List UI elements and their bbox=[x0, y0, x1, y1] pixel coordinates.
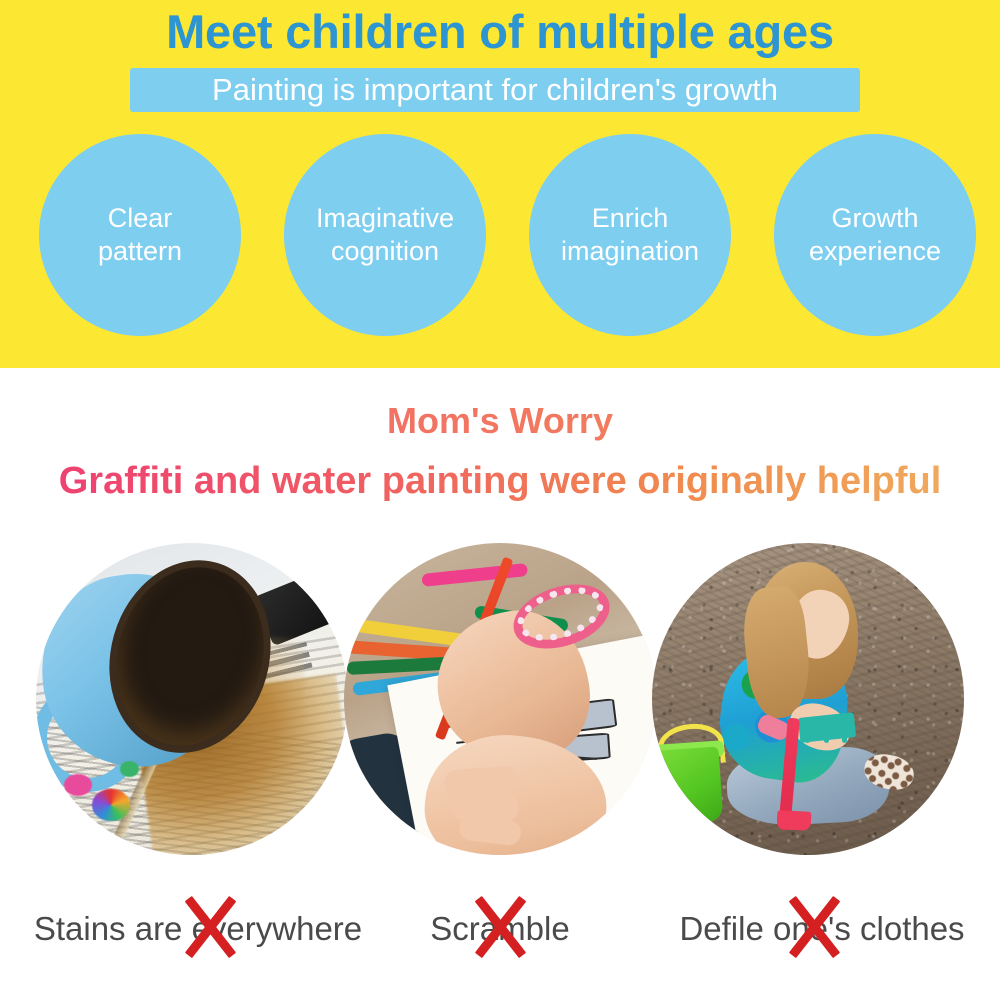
feature-bubble-label: Clear pattern bbox=[39, 202, 241, 268]
hero-title: Meet children of multiple ages bbox=[0, 4, 1000, 59]
hero-subtitle: Painting is important for children's gro… bbox=[130, 68, 860, 112]
worry-heading: Mom's Worry bbox=[0, 400, 1000, 442]
hero-subtitle-band: Painting is important for children's gro… bbox=[130, 68, 860, 112]
worry-tagline: Graffiti and water painting were origina… bbox=[0, 460, 1000, 503]
bucket-icon bbox=[652, 746, 723, 826]
red-cross-icon bbox=[167, 884, 253, 970]
hero-panel: Meet children of multiple ages Painting … bbox=[0, 0, 1000, 368]
feature-bubble-growth-experience: Growth experience bbox=[774, 134, 976, 336]
feature-bubble-label: Growth experience bbox=[774, 202, 976, 268]
photo-artwork bbox=[652, 543, 964, 855]
photo-artwork bbox=[36, 543, 348, 855]
red-cross-icon bbox=[771, 884, 857, 970]
feature-bubble-imaginative-cognition: Imaginative cognition bbox=[284, 134, 486, 336]
feature-bubble-clear-pattern: Clear pattern bbox=[39, 134, 241, 336]
feature-bubble-enrich-imagination: Enrich imagination bbox=[529, 134, 731, 336]
photo-artwork bbox=[344, 543, 656, 855]
caption-row: Stains are everywhere Scramble Defile on… bbox=[0, 898, 1000, 968]
child-drawing-with-colored-pencils-photo bbox=[344, 543, 656, 855]
spilled-coffee-mug-on-newspaper-photo bbox=[36, 543, 348, 855]
feature-bubble-label: Imaginative cognition bbox=[284, 202, 486, 268]
feature-bubble-label: Enrich imagination bbox=[529, 202, 731, 268]
worry-section: Mom's Worry Graffiti and water painting … bbox=[0, 368, 1000, 1000]
girl-playing-in-sand-photo bbox=[652, 543, 964, 855]
red-cross-icon bbox=[457, 884, 543, 970]
